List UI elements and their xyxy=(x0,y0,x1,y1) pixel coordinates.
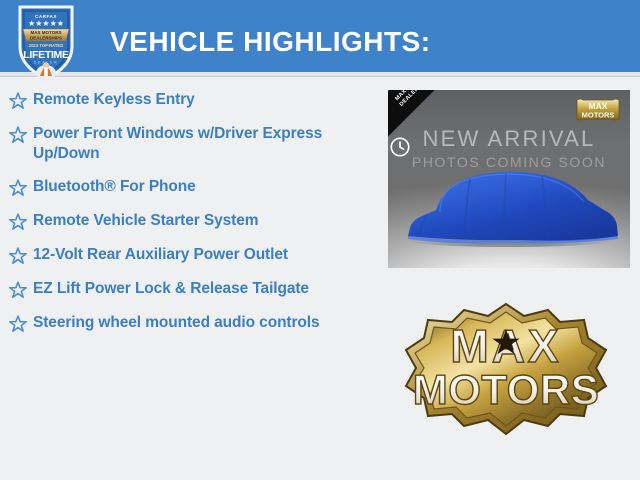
header-divider xyxy=(0,72,640,77)
list-item: Power Front Windows w/Driver Express Up/… xyxy=(0,124,380,164)
svg-text:★★★★★: ★★★★★ xyxy=(28,19,64,28)
star-icon xyxy=(8,178,28,198)
vehicle-highlights-list: Remote Keyless Entry Power Front Windows… xyxy=(0,90,380,347)
star-icon xyxy=(8,280,28,300)
star-icon xyxy=(8,246,28,266)
list-item-label: Bluetooth® For Phone xyxy=(33,177,196,197)
list-item: Remote Keyless Entry xyxy=(0,90,380,111)
max-motors-logo: MAX MOTORS MAX MOTORS xyxy=(400,296,612,448)
svg-text:MAX: MAX xyxy=(589,101,608,111)
svg-text:LIFETIME: LIFETIME xyxy=(23,49,69,61)
carfax-lifetime-dealer-badge: CARFAX ★★★★★ MAX MOTORS DEALERSHIPS 2023… xyxy=(16,3,76,81)
star-icon xyxy=(8,91,28,111)
clock-icon xyxy=(389,136,411,158)
list-item-label: 12-Volt Rear Auxiliary Power Outlet xyxy=(33,245,288,265)
page-title: VEHICLE HIGHLIGHTS: xyxy=(110,26,431,58)
star-icon xyxy=(8,314,28,334)
list-item-label: Power Front Windows w/Driver Express Up/… xyxy=(33,124,363,164)
covered-car-icon xyxy=(396,162,624,247)
photo-headline: NEW ARRIVAL xyxy=(388,126,630,152)
list-item: Remote Vehicle Starter System xyxy=(0,211,380,232)
max-motors-watermark: MAX MOTORS xyxy=(574,96,622,123)
list-item-label: Remote Keyless Entry xyxy=(33,90,195,110)
list-item-label: Remote Vehicle Starter System xyxy=(33,211,258,231)
list-item: EZ Lift Power Lock & Release Tailgate xyxy=(0,279,380,300)
list-item: Bluetooth® For Phone xyxy=(0,177,380,198)
svg-text:DEALERSHIPS: DEALERSHIPS xyxy=(30,35,62,40)
list-item: Steering wheel mounted audio controls xyxy=(0,313,380,334)
star-icon xyxy=(8,212,28,232)
star-icon xyxy=(8,125,28,145)
svg-text:MOTORS: MOTORS xyxy=(582,111,615,120)
list-item-label: Steering wheel mounted audio controls xyxy=(33,313,320,333)
svg-text:2023 TOP-RATED: 2023 TOP-RATED xyxy=(29,43,64,48)
list-item: 12-Volt Rear Auxiliary Power Outlet xyxy=(0,245,380,266)
list-item-label: EZ Lift Power Lock & Release Tailgate xyxy=(33,279,309,299)
svg-text:MOTORS: MOTORS xyxy=(413,366,600,413)
new-arrival-placeholder-photo[interactable]: NEW ARRIVAL PHOTOS COMING SOON xyxy=(388,90,630,268)
